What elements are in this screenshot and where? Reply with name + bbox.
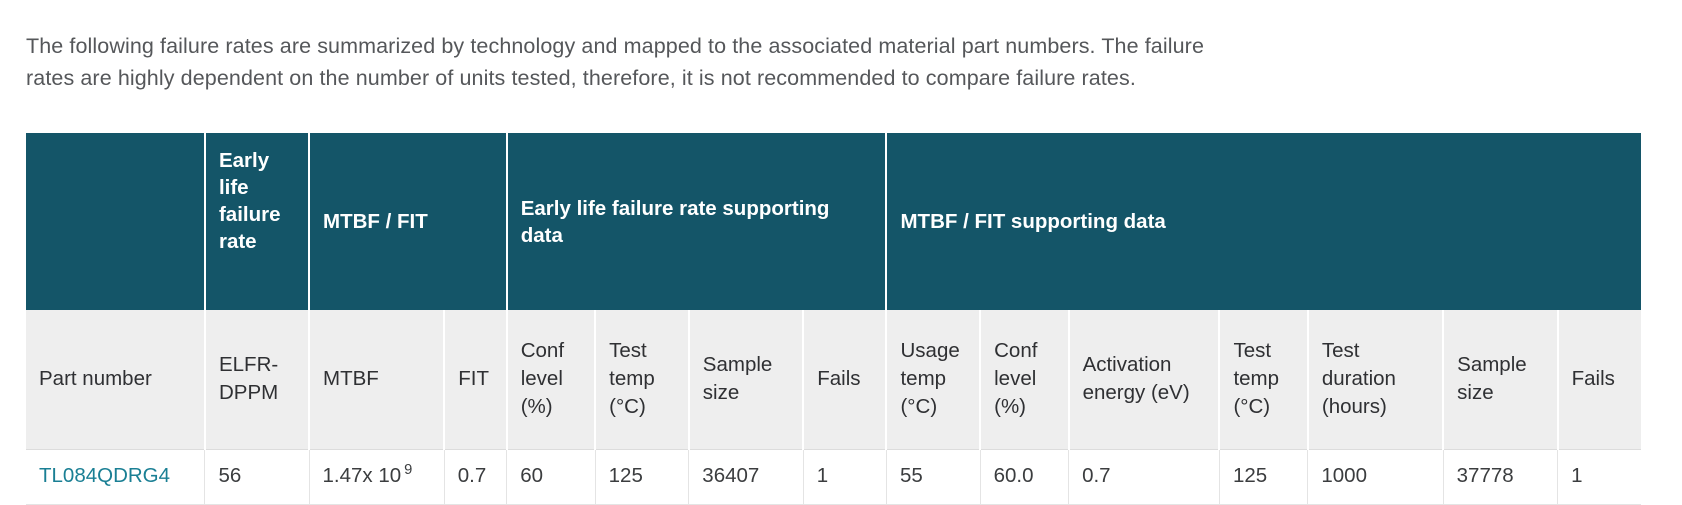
column-header-part-number: Part number xyxy=(26,310,205,450)
cell-activation-energy: 0.7 xyxy=(1069,450,1220,505)
reliability-table-page: The following failure rates are summariz… xyxy=(0,0,1682,502)
table-column-header-row: Part number ELFR-DPPM MTBF FIT Conf leve… xyxy=(26,310,1641,450)
cell-elfr-conf-level: 60 xyxy=(507,450,595,505)
table-group-header-row: Early life failure rate MTBF / FIT Early… xyxy=(26,133,1641,310)
cell-mtbf-test-temp: 125 xyxy=(1219,450,1307,505)
column-header-elfr-test-temp: Test temp (°C) xyxy=(595,310,689,450)
column-header-mtbf-sample-size: Sample size xyxy=(1443,310,1557,450)
failure-rate-table: Early life failure rate MTBF / FIT Early… xyxy=(26,133,1641,505)
group-header-mtbf-fit: MTBF / FIT xyxy=(309,133,507,310)
cell-part-number: TL084QDRG4 xyxy=(26,450,205,505)
cell-usage-temp: 55 xyxy=(886,450,980,505)
mtbf-exponent: 9 xyxy=(401,462,412,478)
cell-mtbf: 1.47x 109 xyxy=(309,450,444,505)
column-header-elfr-fails: Fails xyxy=(803,310,886,450)
intro-paragraph: The following failure rates are summariz… xyxy=(26,30,1241,94)
column-header-fit: FIT xyxy=(444,310,506,450)
column-header-elfr-sample-size: Sample size xyxy=(689,310,803,450)
part-number-link[interactable]: TL084QDRG4 xyxy=(39,464,170,487)
column-header-elfr-dppm: ELFR-DPPM xyxy=(205,310,309,450)
cell-elfr-sample-size: 36407 xyxy=(689,450,803,505)
cell-elfr-test-temp: 125 xyxy=(595,450,689,505)
column-header-usage-temp: Usage temp (°C) xyxy=(886,310,980,450)
column-header-elfr-conf-level: Conf level (%) xyxy=(507,310,595,450)
cell-fit: 0.7 xyxy=(444,450,506,505)
cell-elfr-dppm: 56 xyxy=(205,450,309,505)
column-header-mtbf: MTBF xyxy=(309,310,444,450)
cell-mtbf-fails: 1 xyxy=(1558,450,1641,505)
group-header-elfr-supporting-data: Early life failure rate supporting data xyxy=(507,133,887,310)
cell-test-duration: 1000 xyxy=(1308,450,1443,505)
cell-mtbf-conf-level: 60.0 xyxy=(980,450,1068,505)
group-header-blank xyxy=(26,133,205,310)
cell-elfr-fails: 1 xyxy=(803,450,886,505)
column-header-mtbf-conf-level: Conf level (%) xyxy=(980,310,1068,450)
group-header-mtbf-supporting-data: MTBF / FIT supporting data xyxy=(886,133,1641,310)
column-header-test-duration: Test duration (hours) xyxy=(1308,310,1443,450)
column-header-mtbf-test-temp: Test temp (°C) xyxy=(1219,310,1307,450)
column-header-mtbf-fails: Fails xyxy=(1558,310,1641,450)
group-header-early-life-failure-rate: Early life failure rate xyxy=(205,133,309,310)
cell-mtbf-sample-size: 37778 xyxy=(1443,450,1557,505)
column-header-activation-energy: Activation energy (eV) xyxy=(1069,310,1220,450)
table-row: TL084QDRG4 56 1.47x 109 0.7 60 125 36407… xyxy=(26,450,1641,505)
mtbf-mantissa: 1.47x 10 xyxy=(323,464,402,487)
